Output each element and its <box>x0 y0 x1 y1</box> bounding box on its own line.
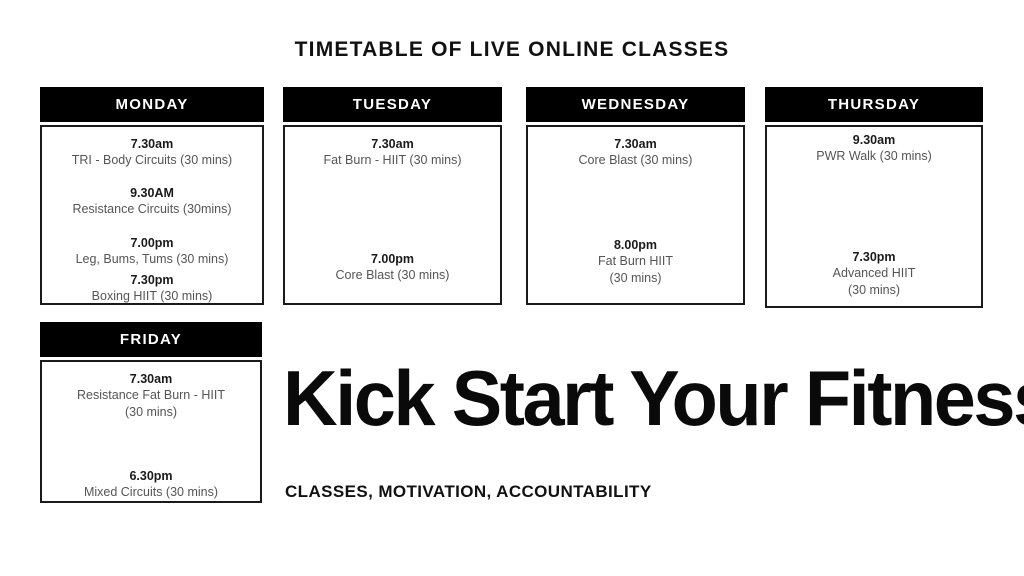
day-body-friday: 7.30am Resistance Fat Burn - HIIT (30 mi… <box>40 360 262 503</box>
session-class: Advanced HIIT <box>773 265 975 282</box>
day-card-wednesday: WEDNESDAY 7.30am Core Blast (30 mins) 8.… <box>526 87 745 305</box>
page-title: TIMETABLE OF LIVE ONLINE CLASSES <box>0 38 1024 62</box>
session-time: 7.30am <box>534 136 737 152</box>
session-item: 7.00pm Core Blast (30 mins) <box>285 251 500 284</box>
session-time: 7.30pm <box>48 272 256 288</box>
day-card-tuesday: TUESDAY 7.30am Fat Burn - HIIT (30 mins)… <box>283 87 502 305</box>
session-class: Fat Burn HIIT <box>534 253 737 270</box>
session-class: Resistance Circuits (30mins) <box>48 201 256 218</box>
day-header-tuesday: TUESDAY <box>283 87 502 122</box>
day-body-monday: 7.30am TRI - Body Circuits (30 mins) 9.3… <box>40 125 264 305</box>
day-header-thursday: THURSDAY <box>765 87 983 122</box>
session-time: 7.30am <box>48 371 254 387</box>
session-time: 8.00pm <box>534 237 737 253</box>
session-time: 7.00pm <box>291 251 494 267</box>
session-item: 7.30am TRI - Body Circuits (30 mins) <box>42 136 262 169</box>
day-header-wednesday: WEDNESDAY <box>526 87 745 122</box>
session-time: 7.00pm <box>48 235 256 251</box>
session-time: 6.30pm <box>48 468 254 484</box>
headline: Kick Start Your Fitness <box>283 355 962 441</box>
day-body-wednesday: 7.30am Core Blast (30 mins) 8.00pm Fat B… <box>526 125 745 305</box>
session-class: Core Blast (30 mins) <box>534 152 737 169</box>
session-time: 7.30am <box>291 136 494 152</box>
session-item: 8.00pm Fat Burn HIIT (30 mins) <box>528 237 743 287</box>
session-time: 9.30am <box>773 132 975 148</box>
day-header-monday: MONDAY <box>40 87 264 122</box>
session-class: Fat Burn - HIIT (30 mins) <box>291 152 494 169</box>
day-card-thursday: THURSDAY 9.30am PWR Walk (30 mins) 7.30p… <box>765 87 983 308</box>
session-item: 7.30pm Boxing HIIT (30 mins) <box>42 272 262 305</box>
session-duration: (30 mins) <box>48 404 254 421</box>
session-item: 7.30am Fat Burn - HIIT (30 mins) <box>285 136 500 169</box>
session-class: TRI - Body Circuits (30 mins) <box>48 152 256 169</box>
session-duration: (30 mins) <box>773 282 975 299</box>
session-item: 9.30AM Resistance Circuits (30mins) <box>42 185 262 218</box>
day-body-thursday: 9.30am PWR Walk (30 mins) 7.30pm Advance… <box>765 125 983 308</box>
day-body-tuesday: 7.30am Fat Burn - HIIT (30 mins) 7.00pm … <box>283 125 502 305</box>
session-class: Boxing HIIT (30 mins) <box>48 288 256 305</box>
session-item: 7.30pm Advanced HIIT (30 mins) <box>767 249 981 299</box>
session-class: Leg, Bums, Tums (30 mins) <box>48 251 256 268</box>
session-item: 7.30am Resistance Fat Burn - HIIT (30 mi… <box>42 371 260 421</box>
session-class: Resistance Fat Burn - HIIT <box>48 387 254 404</box>
session-class: Mixed Circuits (30 mins) <box>48 484 254 501</box>
session-class: PWR Walk (30 mins) <box>773 148 975 165</box>
day-card-monday: MONDAY 7.30am TRI - Body Circuits (30 mi… <box>40 87 264 305</box>
session-item: 7.00pm Leg, Bums, Tums (30 mins) <box>42 235 262 268</box>
session-item: 7.30am Core Blast (30 mins) <box>528 136 743 169</box>
session-item: 6.30pm Mixed Circuits (30 mins) <box>42 468 260 501</box>
day-card-friday: FRIDAY 7.30am Resistance Fat Burn - HIIT… <box>40 322 262 503</box>
day-header-friday: FRIDAY <box>40 322 262 357</box>
session-time: 7.30am <box>48 136 256 152</box>
session-time: 9.30AM <box>48 185 256 201</box>
session-time: 7.30pm <box>773 249 975 265</box>
session-class: Core Blast (30 mins) <box>291 267 494 284</box>
tagline: CLASSES, MOTIVATION, ACCOUNTABILITY <box>285 482 652 502</box>
session-duration: (30 mins) <box>534 270 737 287</box>
session-item: 9.30am PWR Walk (30 mins) <box>767 132 981 165</box>
